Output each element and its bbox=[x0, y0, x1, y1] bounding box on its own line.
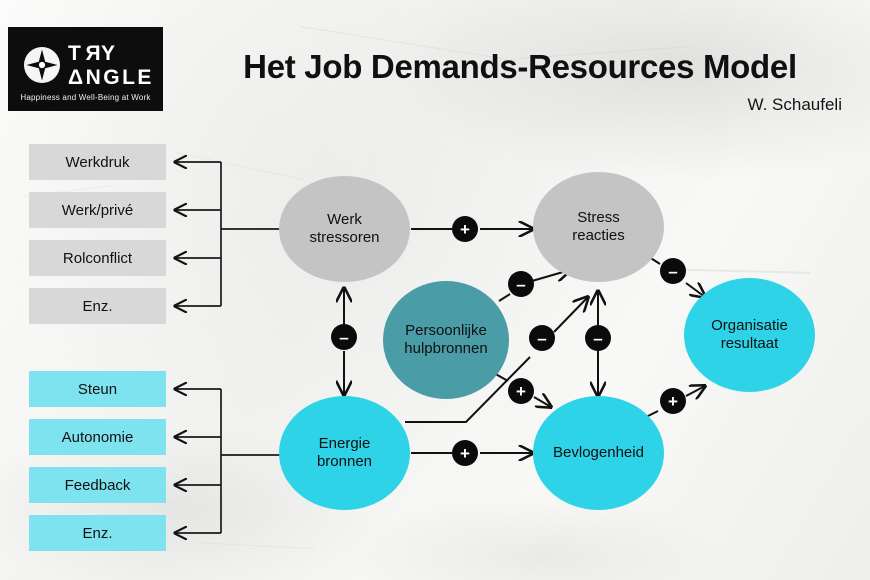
node-label: Stress reacties bbox=[572, 209, 625, 245]
sign-badge-stressors-energy: – bbox=[331, 324, 357, 350]
node-label-line2: stressoren bbox=[309, 229, 379, 246]
resource-chip-feedback[interactable]: Feedback bbox=[29, 467, 166, 503]
sign-badge-engagement-to-outcome: + bbox=[660, 388, 686, 414]
sign-badge-energy-to-stress: – bbox=[529, 325, 555, 351]
node-bevlogenheid[interactable]: Bevlogenheid bbox=[533, 396, 664, 510]
demand-chip-werk-prive[interactable]: Werk/privé bbox=[29, 192, 166, 228]
node-label-line2: reacties bbox=[572, 227, 625, 244]
chip-label: Werk/privé bbox=[62, 202, 133, 219]
node-label: Bevlogenheid bbox=[553, 444, 644, 462]
node-label-line1: Persoonlijke bbox=[405, 322, 487, 339]
sign-badge-stress-to-engagement: – bbox=[585, 325, 611, 351]
demand-chip-rolconflict[interactable]: Rolconflict bbox=[29, 240, 166, 276]
node-label-line2: resultaat bbox=[721, 335, 779, 352]
sign-badge-stressors-to-stress: + bbox=[452, 216, 478, 242]
resource-chip-enz[interactable]: Enz. bbox=[29, 515, 166, 551]
node-label-line1: Energie bbox=[319, 435, 371, 452]
node-werk-stressoren[interactable]: Werk stressoren bbox=[279, 176, 410, 282]
sign-badge-stress-to-outcome: – bbox=[660, 258, 686, 284]
chip-label: Enz. bbox=[82, 298, 112, 315]
node-persoonlijke-hulpbronnen[interactable]: Persoonlijke hulpbronnen bbox=[383, 281, 509, 399]
node-label: Energie bronnen bbox=[317, 435, 372, 471]
chip-label: Steun bbox=[78, 381, 117, 398]
page-title: Het Job Demands-Resources Model bbox=[190, 48, 850, 86]
sign-badge-energy-to-engagement: + bbox=[452, 440, 478, 466]
resource-chip-autonomie[interactable]: Autonomie bbox=[29, 419, 166, 455]
chip-label: Rolconflict bbox=[63, 250, 132, 267]
node-energie-bronnen[interactable]: Energie bronnen bbox=[279, 396, 410, 510]
node-label-line2: hulpbronnen bbox=[404, 340, 487, 357]
chip-label: Feedback bbox=[65, 477, 131, 494]
node-organisatie-resultaat[interactable]: Organisatie resultaat bbox=[684, 278, 815, 392]
node-label-line1: Werk bbox=[327, 211, 362, 228]
sign-badge-personal-to-engagement: + bbox=[508, 378, 534, 404]
node-label-line1: Organisatie bbox=[711, 317, 788, 334]
chip-label: Werkdruk bbox=[66, 154, 130, 171]
node-label: Werk stressoren bbox=[309, 211, 379, 247]
node-label: Organisatie resultaat bbox=[711, 317, 788, 353]
node-label-line1: Stress bbox=[577, 209, 620, 226]
node-stress-reacties[interactable]: Stress reacties bbox=[533, 172, 664, 282]
compass-star-icon bbox=[22, 45, 62, 85]
brand-logo: TRY ΔNGLE Happiness and Well-Being at Wo… bbox=[8, 27, 163, 111]
node-label-line2: bronnen bbox=[317, 453, 372, 470]
node-label-line1: Bevlogenheid bbox=[553, 444, 644, 461]
logo-word-line1: TRY bbox=[68, 42, 118, 65]
node-label: Persoonlijke hulpbronnen bbox=[404, 322, 487, 358]
page-author: W. Schaufeli bbox=[748, 95, 843, 115]
chip-label: Autonomie bbox=[62, 429, 134, 446]
logo-tagline: Happiness and Well-Being at Work bbox=[8, 93, 163, 102]
logo-wordmark: TRY ΔNGLE bbox=[68, 43, 154, 88]
demand-chip-enz[interactable]: Enz. bbox=[29, 288, 166, 324]
resource-chip-steun[interactable]: Steun bbox=[29, 371, 166, 407]
demand-chip-werkdruk[interactable]: Werkdruk bbox=[29, 144, 166, 180]
logo-word-line2: ΔNGLE bbox=[68, 67, 154, 88]
chip-label: Enz. bbox=[82, 525, 112, 542]
sign-badge-personal-to-stress: – bbox=[508, 271, 534, 297]
